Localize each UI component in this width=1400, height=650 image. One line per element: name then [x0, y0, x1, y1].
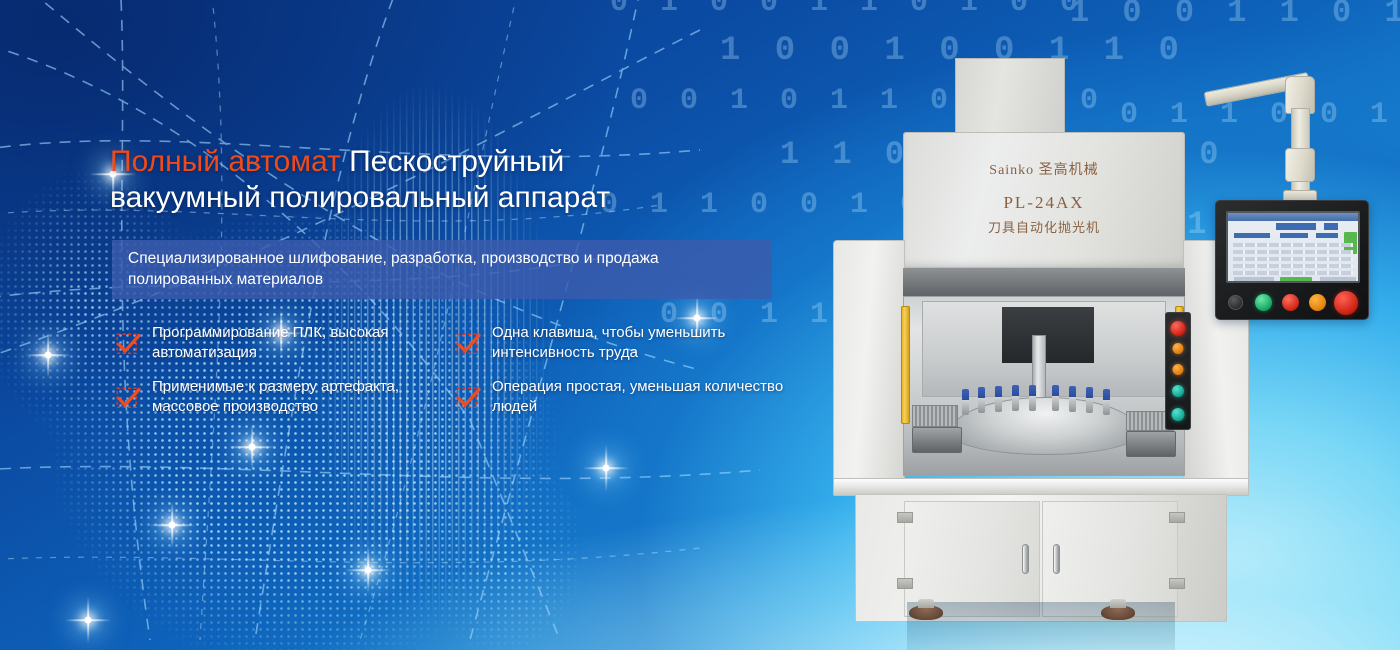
selector-knob[interactable] [1228, 295, 1243, 310]
machine-leveling-foot [909, 605, 943, 620]
emergency-stop-button[interactable] [1334, 291, 1358, 315]
headline-line2: вакуумный полировальный аппарат [110, 181, 610, 214]
feature-list: Программирование ПЛК, высокая автоматиза… [112, 320, 802, 428]
tool-holder [1012, 385, 1019, 411]
cabinet-hinge [897, 512, 913, 523]
tool-holder [1069, 386, 1076, 412]
green-button[interactable] [1255, 294, 1272, 311]
product-image-polishing-machine: Sainko 圣高机械 PL-24AX 刀具自动化抛光机 [815, 40, 1375, 650]
tool-holder [1029, 385, 1036, 411]
machine-left-side-panel [833, 240, 905, 490]
tool-holder [978, 387, 985, 413]
support-arm-joint-lower [1285, 148, 1315, 182]
red-check-icon [455, 386, 481, 412]
subtitle-bar: Специализированное шлифование, разработк… [112, 240, 772, 299]
status-lamp-red [1171, 321, 1186, 336]
feature-label: Операция простая, уменьшая количество лю… [492, 377, 784, 417]
hmi-field-chip [1316, 233, 1338, 238]
machine-brand-name: Sainko 圣高机械 [904, 159, 1184, 179]
feature-label: Одна клавиша, чтобы уменьшить интенсивно… [492, 323, 784, 363]
machine-head-panel: Sainko 圣高机械 PL-24AX 刀具自动化抛光机 [903, 132, 1185, 268]
cabinet-hinge [1169, 512, 1185, 523]
cabinet-handle-left[interactable] [1022, 544, 1029, 574]
status-lamp-orange [1173, 343, 1184, 354]
red-button[interactable] [1282, 294, 1299, 311]
tool-holder [1103, 389, 1110, 415]
feature-item: Одна клавиша, чтобы уменьшить интенсивно… [452, 320, 782, 374]
tool-holder [962, 389, 969, 415]
feature-label: Программирование ПЛК, высокая автоматиза… [152, 323, 444, 363]
subtitle-line-1: Специализированное шлифование, разработк… [128, 248, 758, 269]
hmi-header-chip [1276, 223, 1316, 230]
cabinet-handle-right[interactable] [1053, 544, 1060, 574]
red-check-icon [115, 332, 141, 358]
feature-item: Программирование ПЛК, высокая автоматиза… [112, 320, 452, 374]
cabinet-hinge [1169, 578, 1185, 589]
hmi-action-chip[interactable] [1320, 277, 1356, 283]
feature-item: Операция простая, уменьшая количество лю… [452, 374, 782, 428]
hmi-title-bar [1228, 213, 1358, 221]
cabinet-hinge [897, 578, 913, 589]
tool-holder [995, 386, 1002, 412]
machine-model-number: PL-24AX [904, 193, 1184, 213]
hmi-action-chip[interactable] [1280, 277, 1312, 283]
machine-brand-subtitle: 刀具自动化抛光机 [904, 217, 1184, 236]
machine-motor-box [912, 427, 962, 453]
status-lamp-teal [1172, 408, 1185, 421]
copy-block: Полный автомат Пескоструйный вакуумный п… [0, 0, 800, 650]
hmi-header-chip [1324, 223, 1338, 230]
headline-accent: Полный автомат [110, 145, 341, 178]
status-lamp-orange [1173, 364, 1184, 375]
hmi-action-chip[interactable] [1234, 277, 1274, 283]
machine-status-light-panel [1165, 312, 1191, 430]
tool-holder [1052, 385, 1059, 411]
feature-item: Применимые к размеру артефакта, массовое… [112, 374, 452, 428]
hmi-control-panel[interactable] [1215, 200, 1369, 320]
hmi-field-chip [1234, 233, 1270, 238]
hmi-field-chip [1280, 233, 1308, 238]
subtitle-line-2: полированных материалов [128, 269, 758, 290]
machine-under-cabinet-shadow [907, 602, 1175, 650]
machine-leveling-foot [1101, 605, 1135, 620]
feature-label: Применимые к размеру артефакта, массовое… [152, 377, 444, 417]
hmi-touchscreen[interactable] [1226, 211, 1360, 283]
machine-working-chamber [903, 296, 1185, 476]
product-banner: 0 1 0 0 1 1 0 1 0 0 1 0 0 1 0 0 1 1 0 0 … [0, 0, 1400, 650]
red-check-icon [455, 332, 481, 358]
chamber-dark-recess [1002, 307, 1094, 363]
orange-button[interactable] [1309, 294, 1326, 311]
tool-holder [1086, 387, 1093, 413]
red-check-icon [115, 386, 141, 412]
headline-rest-line1: Пескоструйный [341, 145, 564, 178]
safety-light-curtain-left [901, 306, 910, 424]
page-title: Полный автомат Пескоструйный вакуумный п… [110, 144, 770, 216]
status-lamp-teal [1172, 385, 1184, 397]
machine-heatsink [912, 405, 958, 427]
machine-motor-box [1126, 431, 1176, 457]
